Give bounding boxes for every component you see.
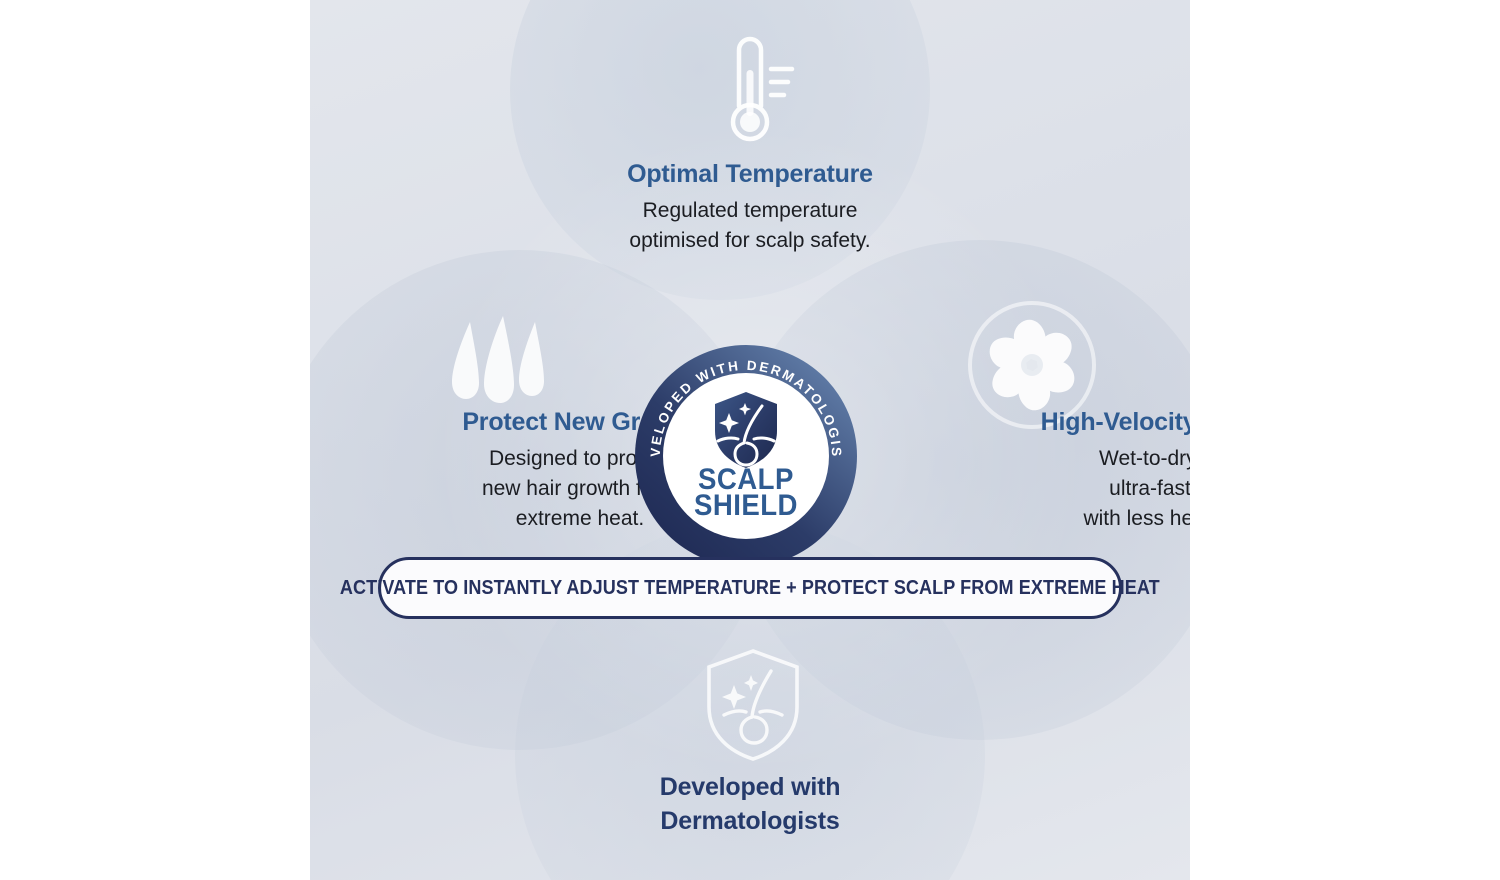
- feature-body: Wet-to-dry, ultra-fast with less heat.: [840, 444, 1190, 534]
- activate-banner[interactable]: ACTIVATE TO INSTANTLY ADJUST TEMPERATURE…: [378, 557, 1122, 619]
- feature-body-line: ultra-fast: [840, 474, 1190, 504]
- feature-body-line: Wet-to-dry,: [840, 444, 1190, 474]
- feature-body-line: Regulated temperature: [440, 196, 1060, 226]
- infographic-stage: Optimal Temperature Regulated temperatur…: [0, 0, 1500, 880]
- feature-optimal-temperature: Optimal Temperature Regulated temperatur…: [440, 160, 1060, 256]
- feature-title-line: Dermatologists: [440, 804, 1060, 838]
- feature-developed-with-dermatologists: Developed with Dermatologists: [440, 770, 1060, 845]
- feature-title: Developed with Dermatologists: [440, 770, 1060, 838]
- hair-follicles-icon: [440, 310, 550, 410]
- feature-body: Regulated temperature optimised for scal…: [440, 196, 1060, 256]
- badge-center-line2: SHIELD: [694, 489, 798, 522]
- feature-high-velocity-flow: High-Velocity Flow Wet-to-dry, ultra-fas…: [840, 408, 1190, 534]
- scalp-shield-badge: DEVELOPED WITH DERMATOLOGISTS STYLIST AP…: [633, 343, 859, 569]
- feature-body-line: with less heat.: [840, 504, 1190, 534]
- thermometer-icon: [695, 22, 805, 152]
- feature-title: High-Velocity Flow: [840, 408, 1190, 437]
- activate-banner-text: ACTIVATE TO INSTANTLY ADJUST TEMPERATURE…: [340, 576, 1160, 600]
- shield-follicle-icon: [698, 645, 808, 765]
- badge-wordmark: SCALP SHIELD: [694, 463, 798, 522]
- feature-title: Optimal Temperature: [440, 160, 1060, 189]
- feature-title-line: Developed with: [660, 773, 841, 801]
- infographic-canvas: Optimal Temperature Regulated temperatur…: [310, 0, 1190, 880]
- feature-body-line: optimised for scalp safety.: [440, 226, 1060, 256]
